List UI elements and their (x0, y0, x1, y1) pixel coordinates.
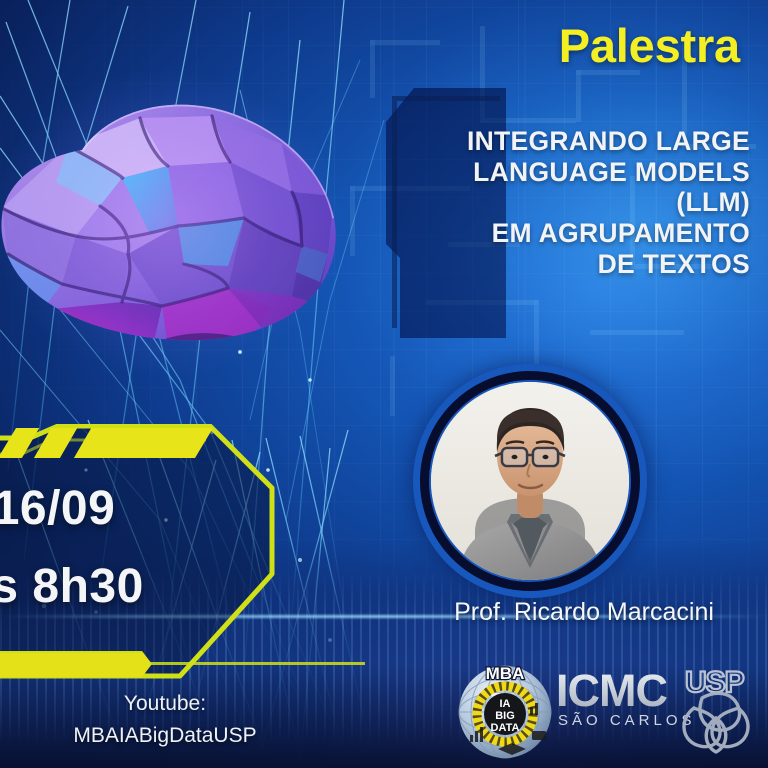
date-frame-stripes (0, 428, 213, 458)
speaker-photo (431, 382, 629, 580)
mba-inner-line3: DATA (491, 722, 520, 734)
title-line-3: (LLM) (398, 187, 750, 218)
brain-glow (0, 18, 402, 428)
icmc-main-text: ICMC (556, 665, 667, 716)
date-text: 16/09 às 8h30 (0, 484, 228, 613)
icmc-usp-icon: ICMC SÃO CARLOS USP (552, 662, 764, 762)
yellow-accent-bar (0, 651, 156, 681)
palestra-badge: Palestra (559, 22, 740, 69)
page-title: INTEGRANDO LARGE LANGUAGE MODELS (LLM) E… (398, 126, 750, 280)
title-line-5: DE TEXTOS (398, 249, 750, 280)
title-block: INTEGRANDO LARGE LANGUAGE MODELS (LLM) E… (386, 88, 756, 338)
yellow-accent-rule (150, 662, 365, 665)
title-line-1: INTEGRANDO LARGE (398, 126, 750, 157)
title-line-2: LANGUAGE MODELS (398, 157, 750, 188)
youtube-channel: MBAIABigDataUSP (0, 720, 330, 752)
speaker-portrait-icon (431, 382, 629, 580)
event-time: às 8h30 (0, 562, 228, 612)
icmc-sub-text: SÃO CARLOS (558, 712, 696, 729)
logo-mba-ia-big-data: IA BIG DATA MBA (452, 657, 558, 763)
youtube-label: Youtube: (0, 688, 330, 720)
speaker-name: Prof. Ricardo Marcacini (400, 598, 768, 627)
logo-icmc-usp: ICMC SÃO CARLOS USP (552, 662, 764, 762)
event-date: 16/09 (0, 484, 228, 534)
youtube-info: Youtube: MBAIABigDataUSP (0, 688, 330, 751)
mba-globe-icon: IA BIG DATA MBA (452, 657, 558, 763)
mba-inner-line1: IA (500, 698, 511, 710)
mba-inner-line2: BIG (495, 710, 515, 722)
avatar (413, 364, 647, 598)
event-poster: Palestra INTEGRANDO LARGE LANGUAGE MODEL… (0, 0, 768, 768)
title-line-4: EM AGRUPAMENTO (398, 218, 750, 249)
mba-top-text: MBA (486, 664, 525, 683)
brain-illustration (0, 58, 362, 388)
